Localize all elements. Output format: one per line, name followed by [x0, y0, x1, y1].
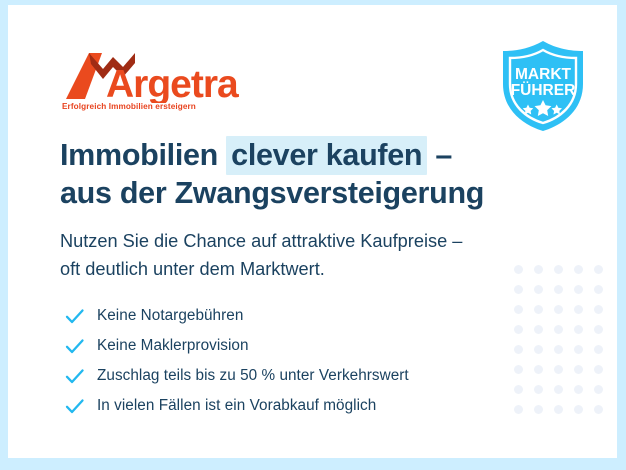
list-item: In vielen Fällen ist ein Vorabkauf mögli…	[64, 391, 544, 421]
page-title: Immobilien clever kaufen – aus der Zwang…	[60, 136, 580, 212]
svg-text:Argetra: Argetra	[106, 63, 239, 103]
subtitle-line-1: Nutzen Sie die Chance auf attraktive Kau…	[60, 227, 580, 255]
check-icon	[64, 336, 85, 357]
list-item: Keine Maklerprovision	[64, 331, 544, 361]
badge-line2: FÜHRER	[511, 82, 576, 99]
shield-badge-icon: MARKT FÜHRER	[495, 38, 591, 134]
headline-highlight: clever kaufen	[226, 136, 427, 175]
benefit-label: In vielen Fällen ist ein Vorabkauf mögli…	[97, 397, 376, 415]
check-icon	[64, 396, 85, 417]
subtitle-line-2: oft deutlich unter dem Marktwert.	[60, 255, 580, 283]
banner-canvas: Argetra Erfolgreich Immobilien ersteiger…	[8, 5, 617, 458]
brand-tagline: Erfolgreich Immobilien ersteigern	[62, 102, 196, 111]
check-icon	[64, 306, 85, 327]
headline-line-2: aus der Zwangsversteigerung	[60, 174, 580, 212]
headline-line-1: Immobilien clever kaufen –	[60, 136, 580, 174]
badge-line1: MARKT	[515, 66, 571, 83]
argetra-roof-a-logo: Argetra	[61, 47, 241, 103]
headline-suffix: –	[427, 138, 452, 172]
benefits-list: Keine Notargebühren Keine Maklerprovisio…	[64, 301, 544, 421]
benefit-label: Zuschlag teils bis zu 50 % unter Verkehr…	[97, 367, 409, 385]
headline-prefix: Immobilien	[60, 138, 226, 172]
promo-banner: Argetra Erfolgreich Immobilien ersteiger…	[0, 0, 626, 470]
market-leader-badge: MARKT FÜHRER	[495, 38, 591, 134]
brand-logo[interactable]: Argetra Erfolgreich Immobilien ersteiger…	[61, 47, 241, 117]
benefit-label: Keine Maklerprovision	[97, 337, 249, 355]
list-item: Keine Notargebühren	[64, 301, 544, 331]
benefit-label: Keine Notargebühren	[97, 307, 243, 325]
check-icon	[64, 366, 85, 387]
page-subtitle: Nutzen Sie die Chance auf attraktive Kau…	[60, 227, 580, 283]
list-item: Zuschlag teils bis zu 50 % unter Verkehr…	[64, 361, 544, 391]
